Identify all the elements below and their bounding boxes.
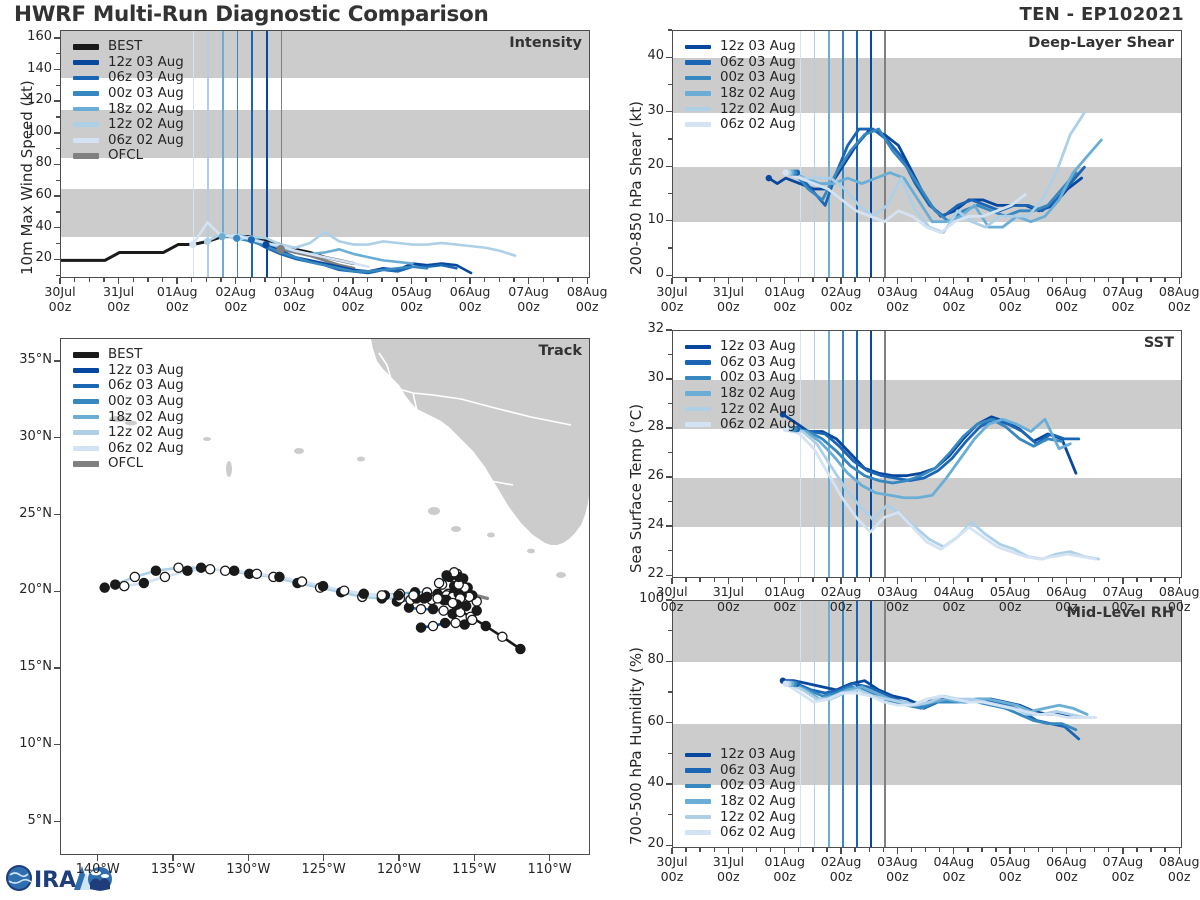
init-marker: [248, 236, 255, 243]
init-marker: [218, 233, 225, 240]
ytick: [666, 111, 672, 112]
ytick-label: 40: [618, 48, 664, 63]
xtick-hour: 00z: [830, 599, 853, 614]
ytick: [54, 100, 60, 101]
xtick-minor: [995, 278, 996, 282]
island-6: [428, 507, 440, 515]
page-title: HWRF Multi-Run Diagnostic Comparison: [14, 2, 489, 27]
legend-label: 18z 02 Aug: [108, 102, 184, 117]
xtick-day: 02Aug: [821, 584, 862, 599]
xtick-minor: [1080, 848, 1081, 852]
xtick-day: 30Jul: [656, 284, 687, 299]
legend-row: 06z 02 Aug: [685, 417, 796, 433]
ytick: [666, 166, 672, 167]
xtick-minor: [1080, 278, 1081, 282]
xtick-day: 05Aug: [391, 284, 432, 299]
xtick-minor: [939, 578, 940, 582]
legend-row: 18z 02 Aug: [685, 794, 796, 810]
track-marker-open: [416, 605, 425, 614]
ytick-minor: [56, 180, 60, 181]
xtick-day: 06Aug: [1046, 854, 1087, 869]
ytick: [666, 599, 672, 600]
xtick-minor: [869, 278, 870, 282]
legend-swatch: [73, 461, 99, 467]
xtick-day: 03Aug: [274, 284, 315, 299]
xtick-hour: 00z: [283, 299, 306, 314]
xtick-label: 115°W: [434, 862, 514, 877]
ytick: [54, 132, 60, 133]
legend-row: 06z 02 Aug: [73, 441, 184, 457]
track-marker-open: [451, 618, 460, 627]
xtick-label: 140°W: [58, 862, 138, 877]
ytick-minor: [56, 148, 60, 149]
legend-label: 06z 02 Aug: [108, 133, 184, 148]
legend: BEST12z 03 Aug06z 03 Aug00z 03 Aug18z 02…: [73, 347, 184, 472]
legend-swatch: [685, 60, 711, 65]
track-marker-open: [434, 578, 443, 587]
xtick: [97, 855, 98, 861]
legend-row: OFCL: [73, 148, 184, 164]
xtick-minor: [981, 278, 982, 282]
legend-swatch: [73, 430, 99, 435]
xtick: [398, 855, 399, 861]
legend-label: OFCL: [108, 456, 143, 471]
xtick-hour: 00z: [576, 299, 599, 314]
xtick-minor: [279, 278, 280, 282]
init-marker: [262, 241, 269, 248]
panel-shear: Deep-Layer Shear12z 03 Aug06z 03 Aug00z …: [672, 30, 1182, 278]
legend-row: 06z 03 Aug: [685, 763, 796, 779]
legend-row: 18z 02 Aug: [73, 101, 184, 117]
xtick-hour: 00z: [999, 869, 1022, 884]
ytick-minor: [668, 691, 672, 692]
island-3: [226, 461, 232, 477]
legend-label: 12z 02 Aug: [720, 810, 796, 825]
ytick-minor: [56, 116, 60, 117]
xtick-minor: [685, 278, 686, 282]
xtick-minor: [685, 848, 686, 852]
xtick-minor: [869, 848, 870, 852]
track-marker-open: [468, 615, 477, 624]
legend-swatch: [73, 415, 99, 420]
xtick-minor: [699, 278, 700, 282]
legend-swatch: [685, 799, 711, 804]
xtick-minor: [798, 848, 799, 852]
track-marker-open: [409, 591, 418, 600]
legend-swatch: [73, 138, 99, 143]
legend-row: 06z 03 Aug: [73, 378, 184, 394]
border-line-1: [305, 379, 391, 385]
ytick-label: 32: [618, 321, 664, 336]
track-marker-open: [377, 591, 386, 600]
xtick-minor: [557, 278, 558, 282]
xtick-minor: [967, 848, 968, 852]
island-10: [556, 572, 566, 578]
legend-swatch: [685, 815, 711, 820]
legend-swatch: [685, 376, 711, 381]
legend: 12z 03 Aug06z 03 Aug00z 03 Aug18z 02 Aug…: [685, 39, 796, 133]
legend-label: 00z 03 Aug: [108, 86, 184, 101]
xtick-minor: [883, 578, 884, 582]
ytick-minor: [668, 630, 672, 631]
legend-swatch: [685, 753, 711, 758]
ytick-label: 30°N: [2, 429, 52, 444]
xtick-minor: [1052, 578, 1053, 582]
xtick-minor: [939, 848, 940, 852]
xtick-minor: [826, 848, 827, 852]
ytick-minor: [668, 247, 672, 248]
xtick-minor: [396, 278, 397, 282]
xtick-minor: [742, 278, 743, 282]
xtick-day: 30Jul: [656, 854, 687, 869]
track-marker-filled: [472, 606, 481, 615]
xtick-minor: [338, 278, 339, 282]
ytick-label: 30: [618, 370, 664, 385]
xtick-minor: [699, 848, 700, 852]
ytick: [666, 845, 672, 846]
ytick-label: 140: [6, 61, 52, 76]
ytick-label: 20: [6, 250, 52, 265]
ytick-label: 160: [6, 29, 52, 44]
ytick: [666, 476, 672, 477]
legend-label: 12z 03 Aug: [720, 339, 796, 354]
legend-label: 12z 03 Aug: [108, 55, 184, 70]
legend-swatch: [685, 107, 711, 112]
xtick-label: 08Aug00z: [1145, 284, 1200, 314]
track-marker-filled: [139, 578, 148, 587]
xtick-minor: [1038, 848, 1039, 852]
legend-label: 18z 02 Aug: [720, 86, 796, 101]
xtick-minor: [425, 278, 426, 282]
xtick-minor: [714, 278, 715, 282]
legend: 12z 03 Aug06z 03 Aug00z 03 Aug18z 02 Aug…: [685, 339, 796, 433]
legend-label: 06z 03 Aug: [720, 355, 796, 370]
panel-track: TrackBEST12z 03 Aug06z 03 Aug00z 03 Aug1…: [60, 338, 590, 855]
xtick-hour: 00z: [1055, 869, 1078, 884]
xtick-minor: [264, 278, 265, 282]
legend-swatch: [685, 76, 711, 81]
xtick-minor: [826, 578, 827, 582]
ytick-minor: [56, 275, 60, 276]
xtick-minor: [1094, 278, 1095, 282]
xtick-minor: [770, 278, 771, 282]
ofcl-marker: [276, 245, 285, 254]
ytick-minor: [668, 193, 672, 194]
xtick-minor: [1108, 848, 1109, 852]
ytick-minor: [668, 138, 672, 139]
xtick-minor: [1024, 848, 1025, 852]
ytick-label: 28: [618, 419, 664, 434]
legend-swatch: [685, 407, 711, 412]
track-marker-filled: [196, 563, 205, 572]
xtick-minor: [543, 278, 544, 282]
xtick: [172, 855, 173, 861]
track-marker-open: [130, 572, 139, 581]
legend-row: 06z 03 Aug: [73, 70, 184, 86]
xtick-hour: 00z: [661, 299, 684, 314]
xtick-minor: [1038, 578, 1039, 582]
xtick-day: 07Aug: [1103, 284, 1144, 299]
xtick-minor: [162, 278, 163, 282]
legend-row: 12z 02 Aug: [685, 401, 796, 417]
xtick-minor: [756, 278, 757, 282]
ytick-label: 40: [618, 775, 664, 790]
xtick-hour: 00z: [400, 299, 423, 314]
track-marker-filled: [100, 583, 109, 592]
legend-label: 06z 02 Aug: [720, 117, 796, 132]
xtick-minor: [1052, 278, 1053, 282]
ytick: [54, 667, 60, 668]
ytick: [54, 514, 60, 515]
legend-row: 00z 03 Aug: [685, 70, 796, 86]
legend-label: 12z 02 Aug: [108, 425, 184, 440]
landmass-shape: [371, 339, 590, 545]
xtick-hour: 00z: [999, 299, 1022, 314]
xtick-hour: 00z: [886, 299, 909, 314]
legend-swatch: [685, 122, 711, 127]
xtick-day: 03Aug: [877, 284, 918, 299]
xtick-minor: [995, 578, 996, 582]
xtick-day: 08Aug: [1159, 584, 1200, 599]
xtick-minor: [714, 578, 715, 582]
xtick-label: 110°W: [510, 862, 590, 877]
xtick-minor: [812, 578, 813, 582]
ytick: [54, 69, 60, 70]
legend-label: 00z 03 Aug: [720, 70, 796, 85]
ytick-label: 40: [6, 219, 52, 234]
track-marker-open: [433, 594, 442, 603]
xtick-minor: [812, 278, 813, 282]
track-marker-filled: [442, 571, 451, 580]
xtick-minor: [1024, 278, 1025, 282]
track-marker-filled: [422, 592, 431, 601]
xtick-minor: [742, 848, 743, 852]
xtick-hour: 00z: [661, 869, 684, 884]
xtick-minor: [1108, 578, 1109, 582]
xtick-hour: 00z: [886, 869, 909, 884]
init-marker: [233, 235, 240, 242]
xtick-label: 120°W: [359, 862, 439, 877]
legend-label: 00z 03 Aug: [720, 778, 796, 793]
legend-row: BEST: [73, 347, 184, 363]
legend-label: OFCL: [108, 148, 143, 163]
island-9: [527, 549, 535, 554]
ytick-label: 20: [618, 157, 664, 172]
xtick-minor: [911, 848, 912, 852]
ytick-minor: [668, 501, 672, 502]
legend-label: 12z 02 Aug: [108, 117, 184, 132]
ytick: [666, 57, 672, 58]
xtick-minor: [911, 278, 912, 282]
ytick: [54, 37, 60, 38]
xtick-label: 08Aug00z: [1145, 854, 1200, 884]
ytick: [666, 525, 672, 526]
xtick-minor: [939, 278, 940, 282]
xtick-minor: [1024, 578, 1025, 582]
legend: 12z 03 Aug06z 03 Aug00z 03 Aug18z 02 Aug…: [685, 747, 796, 841]
track-marker-open: [160, 572, 169, 581]
xtick-minor: [1038, 278, 1039, 282]
legend-label: 18z 02 Aug: [108, 410, 184, 425]
ytick: [666, 427, 672, 428]
xtick-label: 125°W: [284, 862, 364, 877]
legend-label: 06z 03 Aug: [720, 763, 796, 778]
legend-swatch: [73, 446, 99, 451]
xtick-minor: [1136, 578, 1137, 582]
ytick-label: 100: [618, 591, 664, 606]
xtick-minor: [513, 278, 514, 282]
xtick-day: 31Jul: [713, 284, 744, 299]
legend-row: 18z 02 Aug: [685, 386, 796, 402]
series-line-18z-02-Aug: [791, 419, 1070, 497]
xtick-hour: 00z: [107, 299, 130, 314]
panel-sst: SST12z 03 Aug06z 03 Aug00z 03 Aug18z 02 …: [672, 330, 1182, 578]
legend-label: 12z 03 Aug: [108, 363, 184, 378]
ytick: [54, 591, 60, 592]
ytick-label: 60: [618, 714, 664, 729]
xtick-hour: 00z: [1055, 299, 1078, 314]
legend-swatch: [73, 384, 99, 389]
legend-swatch: [73, 76, 99, 81]
track-marker-open: [448, 598, 457, 607]
legend-swatch: [685, 422, 711, 427]
xtick-minor: [89, 278, 90, 282]
ytick-label: 120: [6, 92, 52, 107]
xtick-minor: [191, 278, 192, 282]
xtick-day: 05Aug: [990, 284, 1031, 299]
xtick-hour: 00z: [1112, 869, 1135, 884]
legend-row: OFCL: [73, 456, 184, 472]
xtick-minor: [147, 278, 148, 282]
xtick-day: 05Aug: [990, 584, 1031, 599]
xtick-minor: [995, 848, 996, 852]
ytick: [666, 220, 672, 221]
xtick-minor: [308, 278, 309, 282]
legend-label: 18z 02 Aug: [720, 386, 796, 401]
track-marker-filled: [151, 566, 160, 575]
shear-ylabel: 200-850 hPa Shear (kt): [627, 101, 645, 275]
xtick-day: 08Aug: [1159, 854, 1200, 869]
xtick-hour: 00z: [717, 599, 740, 614]
xtick-hour: 00z: [830, 869, 853, 884]
track-marker-filled: [111, 580, 120, 589]
xtick-minor: [699, 578, 700, 582]
xtick: [474, 855, 475, 861]
ytick-label: 0: [618, 266, 664, 281]
legend-swatch: [73, 399, 99, 404]
track-marker-filled: [428, 605, 437, 614]
legend-swatch: [685, 784, 711, 789]
ytick-label: 26: [618, 468, 664, 483]
track-marker-open: [174, 563, 183, 572]
ytick-minor: [668, 550, 672, 551]
legend-row: 12z 02 Aug: [685, 101, 796, 117]
xtick-minor: [981, 578, 982, 582]
xtick-minor: [1094, 578, 1095, 582]
xtick-day: 06Aug: [450, 284, 491, 299]
xtick-minor: [1164, 578, 1165, 582]
xtick-day: 02Aug: [821, 284, 862, 299]
xtick-day: 07Aug: [508, 284, 549, 299]
xtick-minor: [812, 848, 813, 852]
island-7: [451, 526, 461, 532]
ytick-minor: [56, 211, 60, 212]
xtick-day: 06Aug: [1046, 284, 1087, 299]
ytick-label: 5°N: [2, 813, 52, 828]
xtick-minor: [572, 278, 573, 282]
xtick-day: 06Aug: [1046, 584, 1087, 599]
xtick-hour: 00z: [49, 299, 72, 314]
xtick-minor: [883, 848, 884, 852]
legend-row: 06z 03 Aug: [685, 355, 796, 371]
track-marker-open: [252, 569, 261, 578]
xtick-day: 01Aug: [157, 284, 198, 299]
xtick-hour: 00z: [942, 869, 965, 884]
xtick-minor: [499, 278, 500, 282]
xtick-day: 01Aug: [764, 854, 805, 869]
ytick-label: 20°N: [2, 582, 52, 597]
xtick-minor: [685, 578, 686, 582]
ytick-minor: [668, 753, 672, 754]
legend-row: 06z 02 Aug: [73, 133, 184, 149]
legend-row: 12z 03 Aug: [685, 339, 796, 355]
legend-swatch: [73, 107, 99, 112]
init-marker: [189, 241, 196, 248]
xtick-minor: [967, 578, 968, 582]
intensity-ylabel: 10m Max Wind Speed (kt): [18, 80, 36, 275]
ytick: [666, 722, 672, 723]
xtick-minor: [250, 278, 251, 282]
xtick-hour: 00z: [1168, 299, 1191, 314]
xtick-day: 03Aug: [877, 854, 918, 869]
storm-id-title: TEN - EP102021: [1020, 4, 1184, 25]
ytick-minor: [56, 53, 60, 54]
xtick-hour: 00z: [1168, 869, 1191, 884]
xtick-minor: [455, 278, 456, 282]
legend-row: 00z 03 Aug: [73, 86, 184, 102]
ytick-label: 35°N: [2, 352, 52, 367]
xtick-hour: 00z: [773, 299, 796, 314]
xtick-hour: 00z: [1112, 299, 1135, 314]
track-marker-filled: [481, 621, 490, 630]
legend-label: 12z 03 Aug: [720, 39, 796, 54]
xtick-hour: 00z: [773, 599, 796, 614]
track-marker-filled: [318, 582, 327, 591]
xtick-minor: [1136, 848, 1137, 852]
panel-title-intensity: Intensity: [509, 35, 582, 51]
ytick-minor: [56, 85, 60, 86]
series-line-12z-02-Aug: [207, 232, 515, 256]
xtick-day: 30Jul: [44, 284, 75, 299]
legend-row: 18z 02 Aug: [73, 409, 184, 425]
legend-swatch: [73, 368, 99, 373]
xtick-label: 08Aug00z: [553, 284, 621, 314]
legend-swatch: [685, 830, 711, 835]
xtick-minor: [484, 278, 485, 282]
xtick-day: 08Aug: [1159, 284, 1200, 299]
panel-title-track: Track: [539, 343, 582, 359]
xtick-minor: [854, 278, 855, 282]
xtick-minor: [770, 848, 771, 852]
xtick-minor: [1080, 578, 1081, 582]
island-8: [487, 533, 495, 538]
ytick: [54, 195, 60, 196]
legend-row: 00z 03 Aug: [685, 778, 796, 794]
island-2: [203, 437, 211, 441]
ytick: [54, 164, 60, 165]
ytick: [54, 360, 60, 361]
xtick-day: 03Aug: [877, 584, 918, 599]
